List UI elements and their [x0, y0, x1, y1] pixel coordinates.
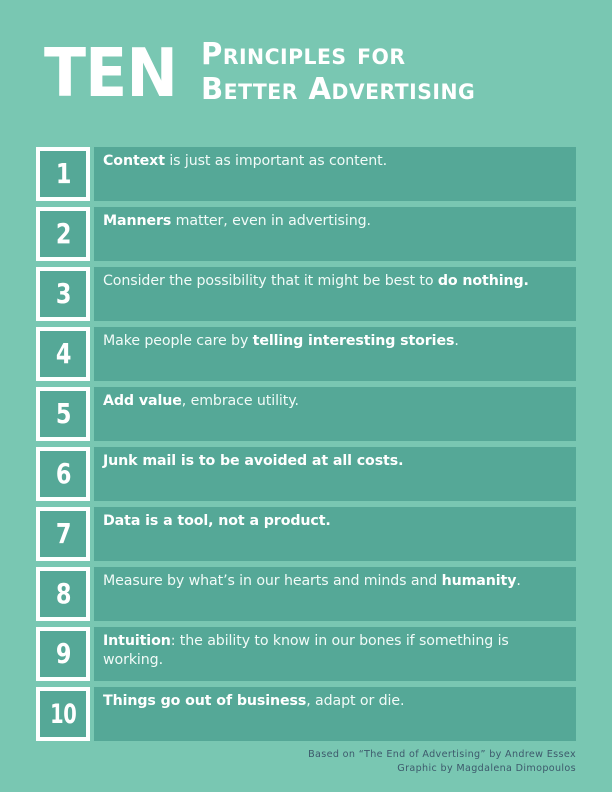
- principle-number-box: 7: [36, 507, 90, 561]
- poster-title: TEN Principles for Better Advertising: [44, 36, 584, 108]
- principle-panel: Context is just as important as content.: [94, 147, 576, 201]
- principle-number: 3: [55, 280, 70, 308]
- principle-number: 9: [55, 640, 70, 668]
- principle-text: Manners matter, even in advertising.: [103, 212, 566, 231]
- footer-credits: Based on “The End of Advertising” by And…: [176, 748, 576, 777]
- principle-panel: Add value, embrace utility.: [94, 387, 576, 441]
- principle-number: 1: [55, 160, 70, 188]
- principle-text: Things go out of business, adapt or die.: [103, 692, 566, 711]
- principle-panel: Intuition: the ability to know in our bo…: [94, 627, 576, 681]
- principle-number: 2: [55, 220, 70, 248]
- title-row: TEN Principles for Better Advertising: [44, 36, 584, 108]
- principle-text: Context is just as important as content.: [103, 152, 566, 171]
- principle-number-box: 5: [36, 387, 90, 441]
- principle-text: Measure by what’s in our hearts and mind…: [103, 572, 566, 591]
- principle-row: 2Manners matter, even in advertising.: [36, 207, 576, 261]
- title-line-2: Better Advertising: [201, 73, 475, 108]
- principles-list: 1Context is just as important as content…: [36, 147, 576, 747]
- principle-text: Make people care by telling interesting …: [103, 332, 566, 351]
- principle-row: 5Add value, embrace utility.: [36, 387, 576, 441]
- principle-panel: Measure by what’s in our hearts and mind…: [94, 567, 576, 621]
- principle-number-box: 9: [36, 627, 90, 681]
- principle-number-box: 3: [36, 267, 90, 321]
- principle-row: 8Measure by what’s in our hearts and min…: [36, 567, 576, 621]
- principle-row: 3Consider the possibility that it might …: [36, 267, 576, 321]
- principle-number-box: 4: [36, 327, 90, 381]
- principle-text: Data is a tool, not a product.: [103, 512, 566, 531]
- principle-number-box: 2: [36, 207, 90, 261]
- principle-text: Intuition: the ability to know in our bo…: [103, 632, 566, 670]
- principle-text: Consider the possibility that it might b…: [103, 272, 566, 291]
- principle-number: 4: [55, 340, 70, 368]
- poster-canvas: TEN Principles for Better Advertising 1C…: [0, 0, 612, 792]
- title-lead-word: TEN: [44, 36, 177, 106]
- principle-panel: Consider the possibility that it might b…: [94, 267, 576, 321]
- principle-number: 10: [50, 701, 76, 728]
- principle-number: 5: [55, 400, 70, 428]
- footer-source-line: Based on “The End of Advertising” by And…: [176, 748, 576, 762]
- principle-row: 9Intuition: the ability to know in our b…: [36, 627, 576, 681]
- principle-number-box: 8: [36, 567, 90, 621]
- principle-number-box: 6: [36, 447, 90, 501]
- principle-number-box: 1: [36, 147, 90, 201]
- title-line-1: Principles for: [201, 38, 475, 73]
- principle-text: Junk mail is to be avoided at all costs.: [103, 452, 566, 471]
- principle-number-box: 10: [36, 687, 90, 741]
- footer-graphic-credit: Graphic by Magdalena Dimopoulos: [176, 762, 576, 776]
- principle-row: 10Things go out of business, adapt or di…: [36, 687, 576, 741]
- principle-number: 6: [55, 460, 70, 488]
- principle-panel: Things go out of business, adapt or die.: [94, 687, 576, 741]
- principle-row: 1Context is just as important as content…: [36, 147, 576, 201]
- principle-panel: Manners matter, even in advertising.: [94, 207, 576, 261]
- principle-number: 7: [55, 520, 70, 548]
- principle-panel: Data is a tool, not a product.: [94, 507, 576, 561]
- principle-row: 4Make people care by telling interesting…: [36, 327, 576, 381]
- principle-text: Add value, embrace utility.: [103, 392, 566, 411]
- principle-row: 7Data is a tool, not a product.: [36, 507, 576, 561]
- principle-panel: Junk mail is to be avoided at all costs.: [94, 447, 576, 501]
- principle-number: 8: [55, 580, 70, 608]
- principle-panel: Make people care by telling interesting …: [94, 327, 576, 381]
- principle-row: 6Junk mail is to be avoided at all costs…: [36, 447, 576, 501]
- title-lines: Principles for Better Advertising: [201, 36, 484, 108]
